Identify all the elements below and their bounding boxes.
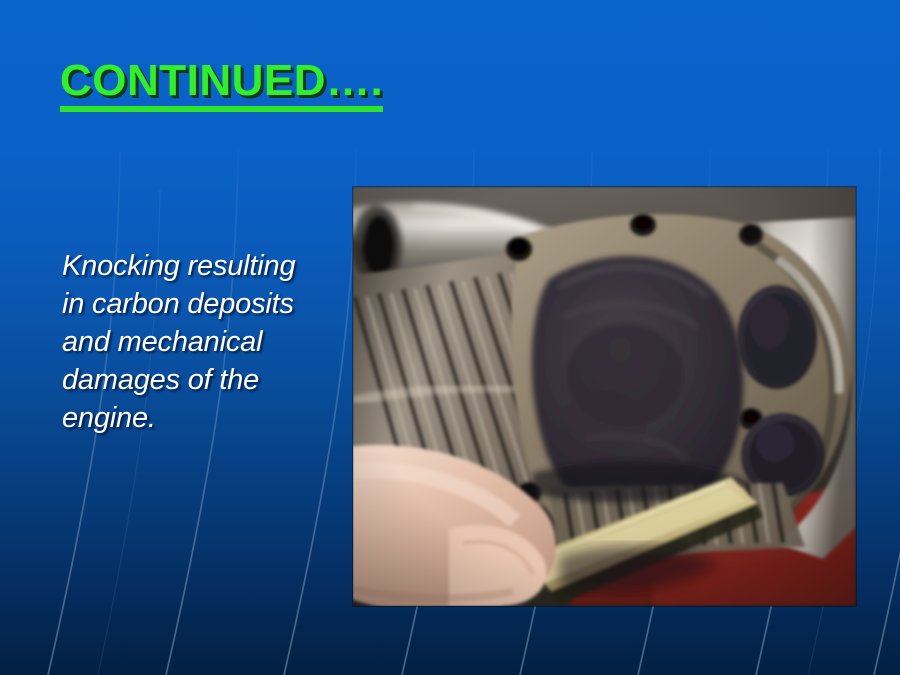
body-text-line: in carbon deposits — [62, 286, 352, 324]
engine-photo-illustration — [353, 187, 856, 606]
page-title: CONTINUED…. — [60, 58, 383, 112]
body-text-line: Knocking resulting — [62, 248, 352, 286]
engine-photo — [353, 187, 856, 606]
body-text-line: engine. — [62, 400, 352, 438]
slide-body-text: Knocking resulting in carbon deposits an… — [62, 248, 352, 438]
body-text-line: damages of the — [62, 362, 352, 400]
slide-title-container: CONTINUED…. — [60, 58, 820, 112]
body-text-line: and mechanical — [62, 324, 352, 362]
presentation-slide: CONTINUED…. Knocking resulting in carbon… — [0, 0, 900, 675]
